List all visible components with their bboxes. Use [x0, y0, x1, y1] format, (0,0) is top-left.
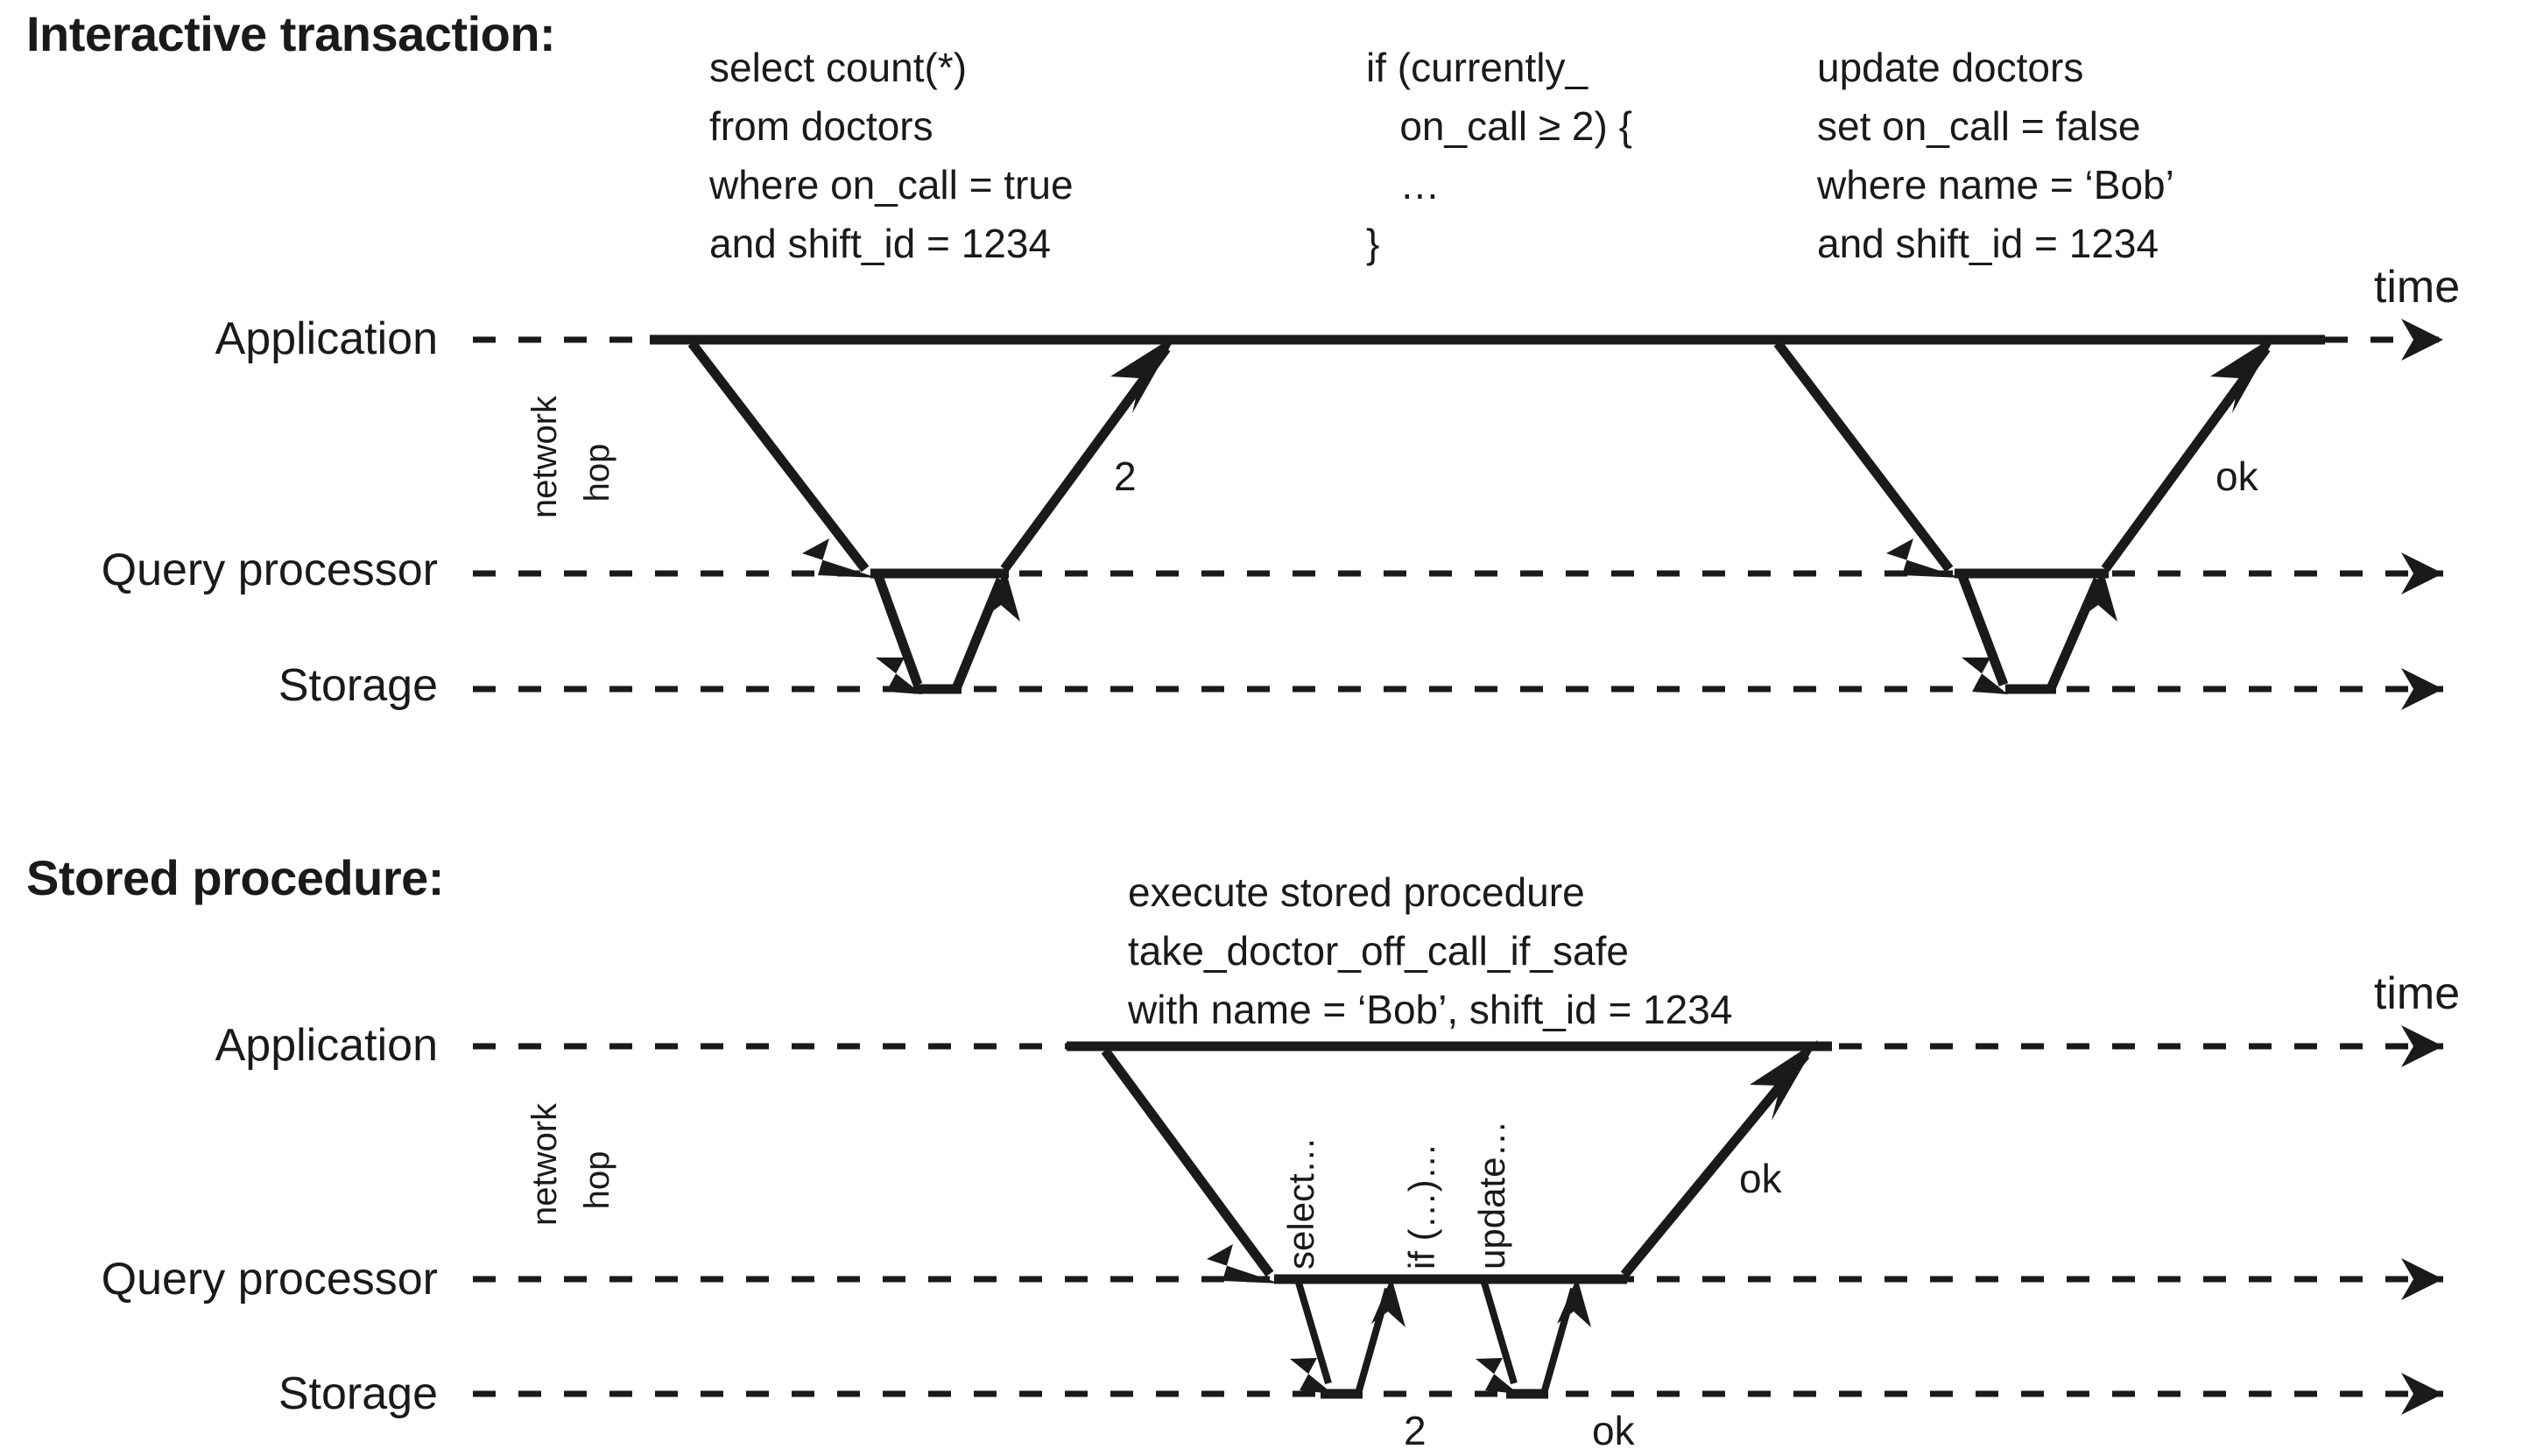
network-hop-label-interactive: network hop: [525, 395, 616, 518]
network-hop-line-2: hop: [578, 444, 616, 503]
code-line: where name = ‘Bob’: [1816, 162, 2174, 207]
network-hop-label-stored-procedure: network hop: [525, 1102, 616, 1226]
message-qp-to-storage-1: [876, 576, 922, 694]
network-hop-line-1: network: [525, 395, 564, 518]
code-line: take_doctor_off_call_if_safe: [1128, 928, 1629, 974]
arrowhead-up: [1557, 1277, 1591, 1327]
message-label-select-reply: 2: [1114, 454, 1137, 499]
lane-label-storage: Storage: [278, 660, 438, 711]
lane-label-storage: Storage: [278, 1368, 438, 1419]
code-line: set on_call = false: [1817, 103, 2141, 149]
code-block-update: update doctors set on_call = false where…: [1816, 45, 2174, 266]
lifeline-application-end-arrowhead: [2401, 319, 2443, 361]
step-label-update: update…: [1471, 1121, 1512, 1270]
lane-label-application: Application: [215, 313, 438, 364]
message-app-to-qp-update: [1778, 343, 1962, 578]
code-line: select count(*): [709, 45, 967, 90]
time-axis-label-interactive: time: [2374, 262, 2460, 313]
network-hop-line-2: hop: [578, 1151, 616, 1210]
message-storage-to-qp-2: [2052, 569, 2117, 686]
section-interactive-transaction: Interactive transaction: select count(*)…: [26, 6, 2460, 711]
message-label-procedure-reply: ok: [1739, 1156, 1783, 1201]
message-label-update-reply: ok: [2216, 454, 2259, 499]
code-line: and shift_id = 1234: [1817, 221, 2159, 266]
lane-label-query-processor: Query processor: [102, 545, 438, 595]
lane-label-application: Application: [215, 1020, 438, 1071]
message-qp-to-app-reply-2: 2: [1004, 334, 1177, 569]
step-label-select: select…: [1280, 1136, 1321, 1270]
message-label-update-reply: ok: [1592, 1408, 1636, 1453]
message-qp-to-app-reply-ok: ok: [1624, 1040, 1818, 1275]
stored-procedure-step-labels: select… if (…)… update…: [1280, 1121, 1512, 1270]
sequence-diagram-canvas: Interactive transaction: select count(*)…: [0, 0, 2522, 1456]
code-line: with name = ‘Bob’, shift_id = 1234: [1127, 987, 1732, 1032]
section-title-stored-procedure: Stored procedure:: [26, 850, 444, 905]
diagram-root: Interactive transaction: select count(*)…: [0, 0, 2522, 1456]
message-app-to-qp-select: [692, 343, 877, 578]
network-hop-line-1: network: [525, 1102, 564, 1226]
message-storage-to-qp-1: [957, 569, 1020, 686]
section-stored-procedure: Stored procedure: execute stored procedu…: [26, 850, 2460, 1453]
code-line: update doctors: [1817, 45, 2083, 90]
code-block-if: if (currently_ on_call ≥ 2) { … }: [1366, 45, 1632, 266]
arrowhead-up-right: [1110, 334, 1177, 413]
code-line: execute stored procedure: [1128, 869, 1585, 915]
code-block-select: select count(*) from doctors where on_ca…: [708, 45, 1074, 266]
message-qp-to-app-reply-ok: ok: [2105, 334, 2277, 569]
code-line: where on_call = true: [708, 162, 1074, 207]
message-storage-to-qp-2: ok: [1545, 1277, 1636, 1453]
section-title-interactive: Interactive transaction:: [26, 6, 555, 61]
message-qp-to-storage-2: [1476, 1283, 1518, 1394]
message-app-to-qp-execute: [1105, 1051, 1280, 1284]
time-axis-label-stored-procedure: time: [2374, 968, 2460, 1019]
message-storage-to-qp-1: 2: [1359, 1277, 1427, 1453]
code-line: }: [1366, 221, 1379, 266]
code-line: …: [1366, 162, 1440, 207]
code-line: if (currently_: [1366, 45, 1589, 90]
step-label-if: if (…)…: [1401, 1143, 1442, 1270]
message-label-select-reply: 2: [1404, 1408, 1427, 1453]
arrowhead-up: [1371, 1277, 1405, 1327]
code-block-execute: execute stored procedure take_doctor_off…: [1127, 869, 1732, 1032]
code-line: and shift_id = 1234: [709, 221, 1051, 266]
code-line: on_call ≥ 2) {: [1366, 103, 1632, 149]
message-qp-to-storage-1: [1290, 1283, 1333, 1394]
code-line: from doctors: [709, 103, 933, 149]
message-qp-to-storage-2: [1962, 576, 2008, 694]
lane-label-query-processor: Query processor: [102, 1254, 438, 1305]
arrowhead-up-right: [2210, 334, 2277, 413]
